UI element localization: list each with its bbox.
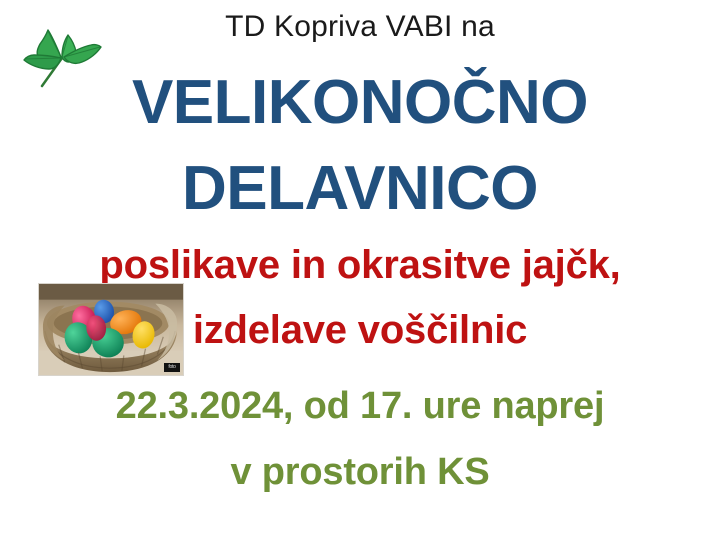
activity-line-1: poslikave in okrasitve jajčk, bbox=[0, 245, 720, 285]
page-title-line-2: DELAVNICO bbox=[0, 158, 720, 220]
page-title-line-1: VELIKONOČNO bbox=[0, 72, 720, 134]
photo-watermark: foto bbox=[164, 363, 180, 372]
easter-eggs-basket-photo: foto bbox=[38, 283, 184, 376]
easter-workshop-poster: TD Kopriva VABI na VELIKONOČNO DELAVNICO… bbox=[0, 0, 720, 540]
organizer-line: TD Kopriva VABI na bbox=[0, 12, 720, 42]
location-line: v prostorih KS bbox=[0, 453, 720, 491]
date-time-line: 22.3.2024, od 17. ure naprej bbox=[0, 387, 720, 425]
